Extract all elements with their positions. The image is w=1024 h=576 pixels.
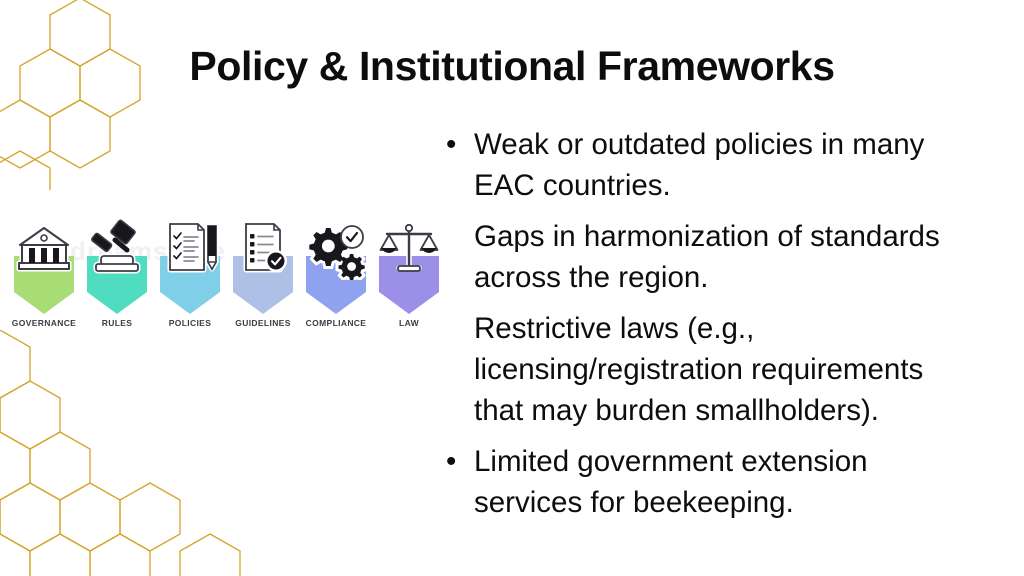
bank-icon bbox=[12, 218, 76, 280]
bullet-item-3: • Limited government extension services … bbox=[436, 441, 956, 523]
bullet-text: Restrictive laws (e.g., licensing/regist… bbox=[474, 312, 923, 427]
bullet-text: Limited government extension services fo… bbox=[474, 445, 868, 519]
policy-infographic: GOVERNANCE bbox=[8, 218, 448, 340]
presentation-slide: Policy & Institutional Frameworks dreams… bbox=[0, 0, 1024, 576]
gears-check-icon bbox=[304, 218, 368, 280]
infographic-item-rules: RULES bbox=[81, 218, 153, 340]
page-title: Policy & Institutional Frameworks bbox=[0, 44, 1024, 89]
bullet-item-1: Gaps in harmonization of standards acros… bbox=[436, 216, 956, 298]
clipboard-check-icon bbox=[231, 218, 295, 280]
bullet-text: Gaps in harmonization of standards acros… bbox=[474, 220, 940, 294]
infographic-item-guidelines: GUIDELINES bbox=[227, 218, 299, 340]
bullet-item-0: • Weak or outdated policies in many EAC … bbox=[436, 124, 956, 206]
infographic-item-compliance: COMPLIANCE bbox=[300, 218, 372, 340]
notepad-pencil-icon bbox=[158, 218, 222, 280]
infographic-item-governance: GOVERNANCE bbox=[8, 218, 80, 340]
slide-body-text: • Weak or outdated policies in many EAC … bbox=[436, 124, 956, 523]
honeycomb-decoration-bottom-left bbox=[0, 330, 490, 576]
gavel-icon bbox=[85, 218, 149, 280]
scales-icon bbox=[377, 218, 441, 280]
infographic-item-policies: POLICIES bbox=[154, 218, 226, 340]
bullet-marker: • bbox=[446, 124, 456, 165]
bullet-item-2: Restrictive laws (e.g., licensing/regist… bbox=[436, 308, 956, 431]
bullet-marker: • bbox=[446, 441, 456, 482]
bullet-text: Weak or outdated policies in many EAC co… bbox=[474, 128, 924, 202]
infographic-item-law: LAW bbox=[373, 218, 445, 340]
honeycomb-decoration-top-left bbox=[0, 0, 182, 195]
